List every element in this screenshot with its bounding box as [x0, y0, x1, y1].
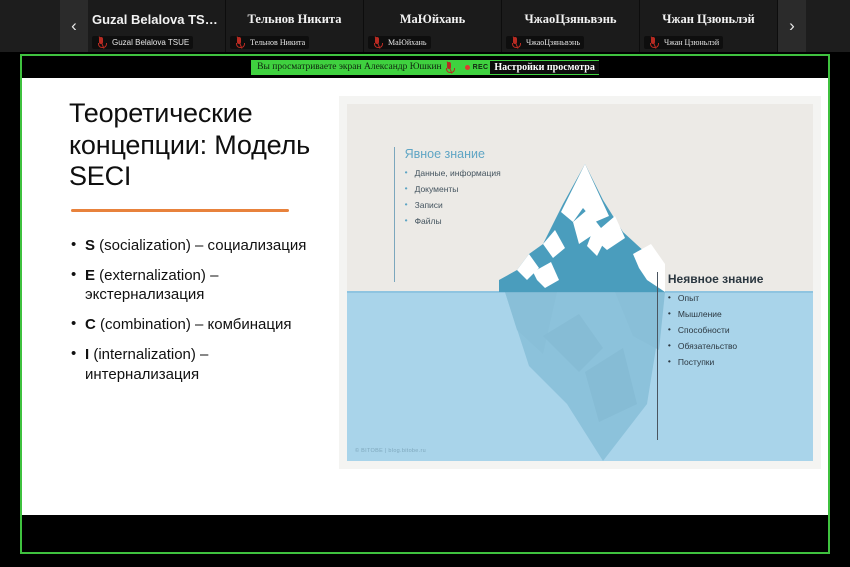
- bullet-term-1: E: [85, 267, 95, 284]
- participant-tile-0[interactable]: Guzal Belalova TSUE Guzal Belalova TSUE: [88, 0, 226, 52]
- bullet-text-0: (socialization) – социализация: [95, 237, 306, 254]
- participant-name-1: Тельнов Никита: [226, 12, 363, 27]
- list-item: Документы: [405, 184, 501, 194]
- shared-screen-bottom-letterbox: [22, 515, 828, 552]
- participant-name-2: МаЮйхань: [364, 12, 501, 27]
- participant-badge-4: Чжан Цзюньлэй: [644, 36, 723, 49]
- explicit-knowledge-list: Данные, информация Документы Записи Файл…: [405, 168, 501, 226]
- participant-tile-4[interactable]: Чжан Цзюньлэй Чжан Цзюньлэй: [640, 0, 778, 52]
- mic-muted-icon: [446, 62, 453, 73]
- prev-participants-button[interactable]: ‹: [60, 0, 88, 52]
- recording-indicator: REC: [465, 64, 489, 71]
- bullet-text-2: (combination) – комбинация: [96, 316, 292, 333]
- mic-muted-icon: [98, 37, 105, 48]
- shared-screen-frame: Вы просматриваете экран Александр Юшкин …: [20, 54, 830, 554]
- list-item: Данные, информация: [405, 168, 501, 178]
- tabstrip-right-pad: [806, 0, 850, 52]
- participant-badge-label-2: МаЮйхань: [388, 38, 427, 47]
- bullet-term-2: C: [85, 316, 96, 333]
- mic-muted-icon: [236, 37, 243, 48]
- participant-name-3: ЧжаоЦзяньвэнь: [502, 12, 639, 27]
- seci-bullet-list: S (socialization) – социализация E (exte…: [69, 236, 317, 384]
- participant-tabstrip: ‹ Guzal Belalova TSUE Guzal Belalova TSU…: [0, 0, 850, 52]
- bullet-term-0: S: [85, 237, 95, 254]
- participant-tile-2[interactable]: МаЮйхань МаЮйхань: [364, 0, 502, 52]
- list-item: I (internalization) – интернализация: [69, 345, 317, 383]
- participant-tile-1[interactable]: Тельнов Никита Тельнов Никита: [226, 0, 364, 52]
- screenshare-statusbar: Вы просматриваете экран Александр Юшкин …: [22, 56, 828, 78]
- list-item: Файлы: [405, 216, 501, 226]
- participant-badge-label-0: Guzal Belalova TSUE: [112, 38, 189, 47]
- explicit-knowledge-heading: Явное знание: [405, 147, 501, 161]
- chevron-left-icon: ‹: [71, 16, 77, 36]
- record-label: REC: [473, 64, 489, 71]
- participant-badge-label-3: ЧжаоЦзяньвэнь: [526, 38, 580, 47]
- bullet-text-1: (externalization) – экстернализация: [85, 267, 218, 303]
- list-item: Обязательство: [668, 341, 764, 351]
- list-item: Записи: [405, 200, 501, 210]
- list-item: S (socialization) – социализация: [69, 236, 317, 255]
- iceberg-figure: Явное знание Данные, информация Документ…: [339, 96, 821, 469]
- next-participants-button[interactable]: ›: [778, 0, 806, 52]
- explicit-knowledge-callout: Явное знание Данные, информация Документ…: [394, 147, 501, 283]
- title-underline-rule: [71, 209, 289, 212]
- participant-badge-1: Тельнов Никита: [230, 36, 309, 49]
- participant-badge-label-4: Чжан Цзюньлэй: [664, 38, 719, 47]
- participant-tile-3[interactable]: ЧжаоЦзяньвэнь ЧжаоЦзяньвэнь: [502, 0, 640, 52]
- participant-badge-label-1: Тельнов Никита: [250, 38, 305, 47]
- figure-watermark: © BITOBE | blog.bitobe.ru: [355, 448, 426, 454]
- screenshare-status-text: Вы просматриваете экран Александр Юшкин: [257, 62, 441, 72]
- tacit-knowledge-callout: Неявное знание Опыт Мышление Способности…: [657, 272, 764, 440]
- participant-name-0: Guzal Belalova TSUE: [88, 12, 225, 27]
- participant-name-4: Чжан Цзюньлэй: [640, 12, 777, 27]
- participant-badge-3: ЧжаоЦзяньвэнь: [506, 36, 584, 49]
- list-item: Мышление: [668, 309, 764, 319]
- iceberg-figure-inner: Явное знание Данные, информация Документ…: [347, 104, 813, 461]
- list-item: Поступки: [668, 357, 764, 367]
- slide-title: Теоретические концепции: Модель SECI: [69, 98, 317, 193]
- participant-tiles: Guzal Belalova TSUE Guzal Belalova TSUE …: [88, 0, 778, 52]
- list-item: E (externalization) – экстернализация: [69, 266, 317, 304]
- bullet-text-3: (internalization) – интернализация: [85, 346, 208, 382]
- participant-badge-0: Guzal Belalova TSUE: [92, 36, 193, 49]
- slide-text-column: Теоретические концепции: Модель SECI S (…: [69, 98, 317, 395]
- mic-muted-icon: [512, 37, 519, 48]
- chevron-right-icon: ›: [789, 16, 795, 36]
- screenshare-status-pill: Вы просматриваете экран Александр Юшкин …: [251, 60, 599, 75]
- mic-muted-icon: [374, 37, 381, 48]
- tacit-knowledge-heading: Неявное знание: [668, 272, 764, 286]
- tacit-knowledge-list: Опыт Мышление Способности Обязательство …: [668, 293, 764, 367]
- participant-badge-2: МаЮйхань: [368, 36, 431, 49]
- mic-muted-icon: [650, 37, 657, 48]
- list-item: C (combination) – комбинация: [69, 315, 317, 334]
- tabstrip-left-pad: [0, 0, 60, 52]
- record-dot-icon: [465, 65, 470, 70]
- view-settings-button[interactable]: Настройки просмотра: [490, 61, 599, 74]
- list-item: Опыт: [668, 293, 764, 303]
- list-item: Способности: [668, 325, 764, 335]
- presentation-slide: Теоретические концепции: Модель SECI S (…: [22, 78, 828, 515]
